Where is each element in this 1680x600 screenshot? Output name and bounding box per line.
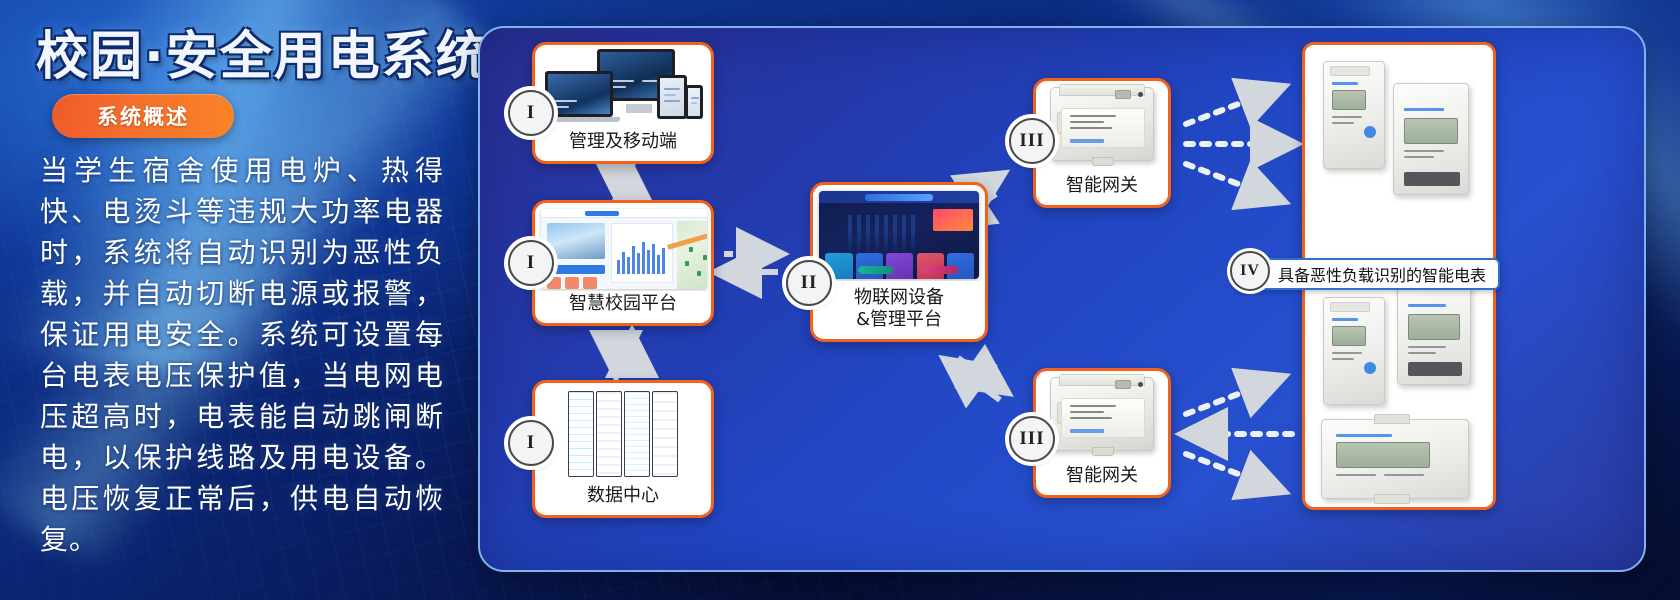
node-admin-mobile[interactable]: 管理及移动端 bbox=[532, 42, 714, 164]
overview-body-text: 当学生宿舍使用电炉、热得快、电烫斗等违规大功率电器时，系统将自动识别为恶性负载，… bbox=[40, 150, 444, 560]
smart-meter-three-phase bbox=[1397, 281, 1471, 385]
node-iot-label-line2: &管理平台 bbox=[817, 309, 981, 331]
marker-roman-gateway-bottom: III bbox=[1009, 416, 1055, 462]
laptop-icon bbox=[545, 71, 613, 117]
admin-devices-image bbox=[535, 45, 711, 129]
node-smart-campus-platform-label: 智慧校园平台 bbox=[535, 291, 711, 323]
connector-gateway-bottom-to-meter-a bbox=[1186, 378, 1280, 414]
campus-platform-screenshot bbox=[535, 203, 711, 291]
marker-roman-admin: I bbox=[508, 90, 554, 136]
node-admin-mobile-label: 管理及移动端 bbox=[535, 129, 711, 161]
smart-meter-caption: IV 具备恶性负载识别的智能电表 bbox=[1236, 258, 1500, 290]
smart-gateway-device-image bbox=[1036, 81, 1168, 173]
node-smart-campus-platform[interactable]: 智慧校园平台 bbox=[532, 200, 714, 326]
status-badge: 系统概述 bbox=[52, 94, 234, 138]
smart-meter-single-phase bbox=[1323, 297, 1385, 405]
marker-roman-iot: II bbox=[786, 260, 832, 306]
marker-roman-campus: I bbox=[508, 240, 554, 286]
node-iot-management-platform[interactable]: 物联网设备 &管理平台 bbox=[810, 182, 988, 342]
overview-column: 校园·安全用电系统 系统概述 当学生宿舍使用电炉、热得快、电烫斗等违规大功率电器… bbox=[0, 0, 470, 600]
node-data-center-label: 数据中心 bbox=[535, 483, 711, 515]
smartphone-icon bbox=[685, 85, 703, 119]
marker-roman-datacenter: I bbox=[508, 420, 554, 466]
smart-meter-caption-label: 具备恶性负载识别的智能电表 bbox=[1278, 262, 1486, 286]
diagram-canvas: 管理及移动端 I bbox=[480, 28, 1644, 570]
connector-gateway-top-to-meter-c bbox=[1186, 164, 1280, 200]
server-rack-image bbox=[535, 383, 711, 483]
architecture-diagram-panel: 管理及移动端 I bbox=[478, 26, 1646, 572]
node-iot-label-line1: 物联网设备 bbox=[817, 287, 981, 309]
node-iot-management-platform-label: 物联网设备 &管理平台 bbox=[813, 281, 985, 339]
marker-roman-meters: IV bbox=[1230, 251, 1270, 291]
status-badge-label: 系统概述 bbox=[97, 101, 189, 131]
node-smart-gateway-bottom-label: 智能网关 bbox=[1036, 463, 1168, 495]
node-smart-gateway-top-label: 智能网关 bbox=[1036, 173, 1168, 205]
node-data-center[interactable]: 数据中心 bbox=[532, 380, 714, 518]
connector-gateway-top-to-meter-a bbox=[1186, 88, 1280, 124]
smart-meter-three-phase bbox=[1393, 83, 1469, 195]
tablet-icon bbox=[657, 75, 687, 119]
connector-gateway-bottom-to-meter-c bbox=[1186, 454, 1280, 490]
page-title: 校园·安全用电系统 bbox=[36, 14, 490, 89]
iot-dashboard-screenshot bbox=[813, 185, 985, 281]
smart-gateway-device-image bbox=[1036, 371, 1168, 463]
smart-meter-single-phase bbox=[1323, 61, 1385, 169]
marker-roman-gateway-top: III bbox=[1009, 118, 1055, 164]
smart-meter-din-rail bbox=[1321, 419, 1469, 499]
